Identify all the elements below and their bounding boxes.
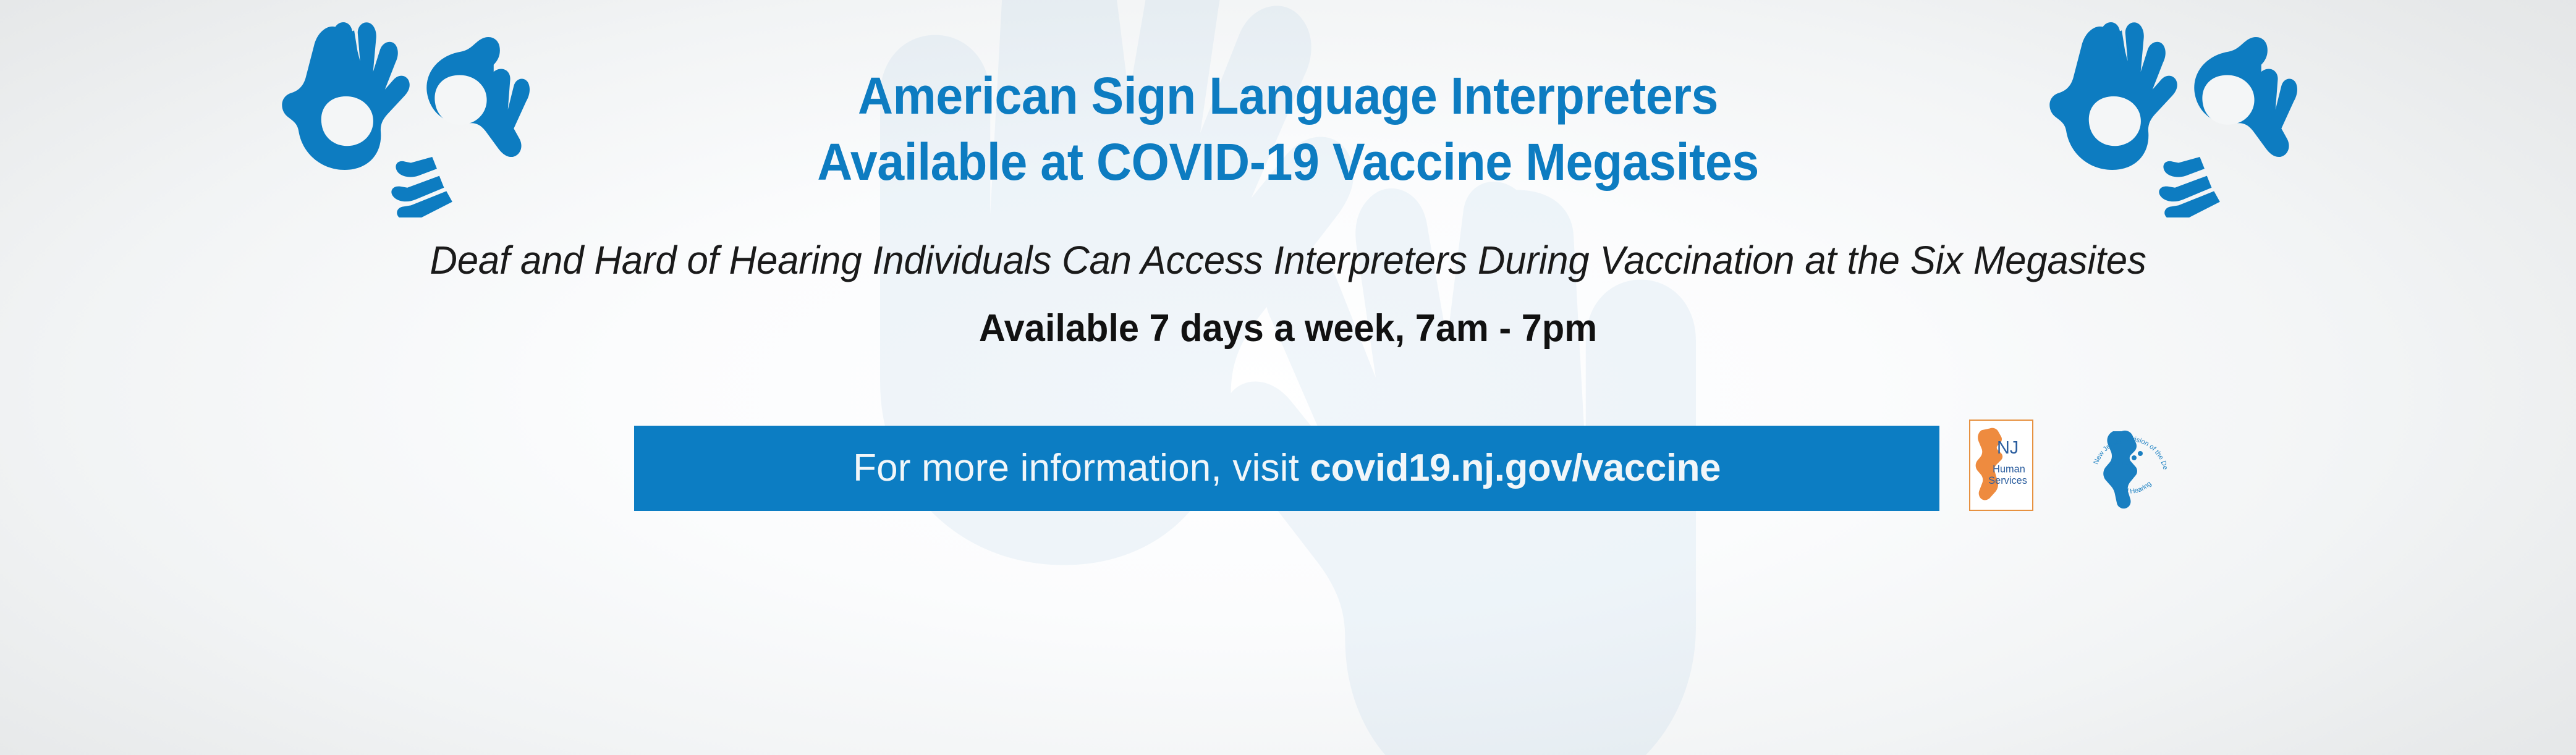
page-title-line-2: Available at COVID-19 Vaccine Megasites xyxy=(77,129,2499,195)
svg-text:Services: Services xyxy=(1988,475,2027,486)
nj-human-services-logo: NJ Human Services xyxy=(1969,420,2033,511)
cta-prefix: For more information, visit xyxy=(853,447,1310,489)
page-title-line-1: American Sign Language Interpreters xyxy=(858,67,1718,125)
cta-url[interactable]: covid19.nj.gov/vaccine xyxy=(1310,447,1721,489)
more-information-cta-bar[interactable]: For more information, visit covid19.nj.g… xyxy=(634,426,1939,511)
svg-text:NJ: NJ xyxy=(1997,438,2019,458)
svg-text:Human: Human xyxy=(1993,464,2025,475)
nj-division-deaf-hard-of-hearing-seal: New Jersey Division of the Deaf and H ar… xyxy=(2087,418,2173,510)
page-title: American Sign Language Interpreters Avai… xyxy=(77,63,2499,195)
cta-text: For more information, visit covid19.nj.g… xyxy=(853,449,1721,487)
availability-hours: Available 7 days a week, 7am - 7pm xyxy=(51,308,2524,350)
subtitle: Deaf and Hard of Hearing Individuals Can… xyxy=(45,238,2531,282)
asl-interpreter-banner: American Sign Language Interpreters Avai… xyxy=(0,0,2576,755)
